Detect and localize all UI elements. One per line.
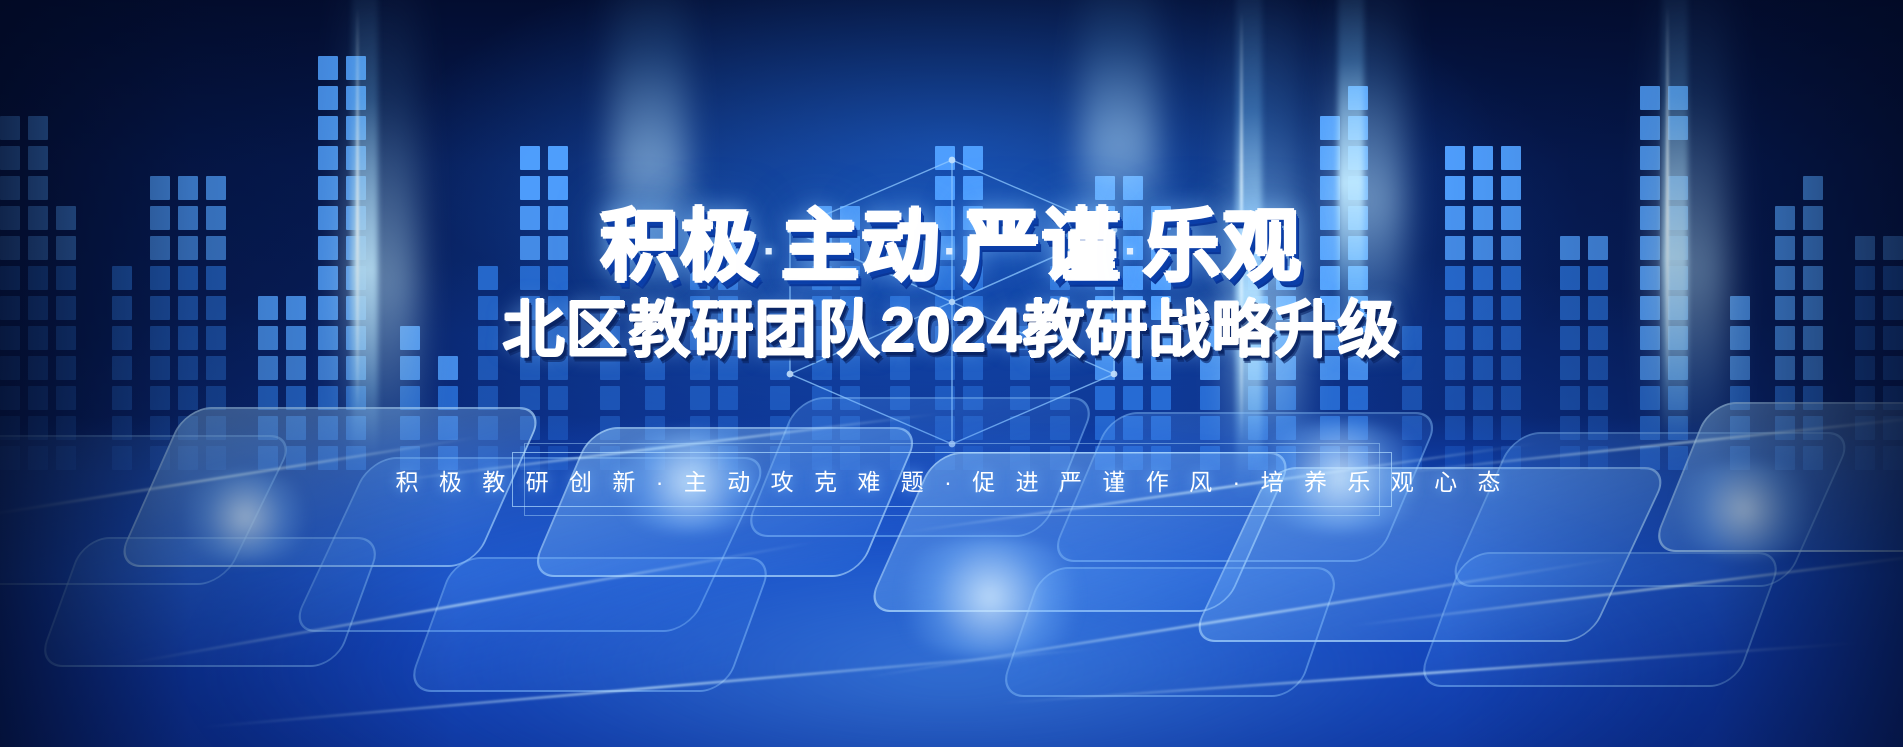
page-title: 积极·主动·严谨·乐观 bbox=[0, 207, 1903, 285]
tagline-bar: 积 极 教 研 创 新 · 主 动 攻 克 难 题 · 促 进 严 谨 作 风 … bbox=[512, 452, 1392, 507]
tagline-text: 积 极 教 研 创 新 · 主 动 攻 克 难 题 · 促 进 严 谨 作 风 … bbox=[512, 452, 1392, 507]
title-separator: · bbox=[941, 227, 962, 276]
title-word: 乐观 bbox=[1143, 202, 1303, 290]
title-word: 积极 bbox=[600, 202, 760, 290]
banner-content: 积极·主动·严谨·乐观 北区教研团队2024教研战略升级 积 极 教 研 创 新… bbox=[0, 0, 1903, 747]
title-separator: · bbox=[1122, 227, 1143, 276]
title-word: 主动 bbox=[781, 202, 941, 290]
page-subtitle: 北区教研团队2024教研战略升级 bbox=[0, 300, 1903, 362]
banner-root: 积极·主动·严谨·乐观 北区教研团队2024教研战略升级 积 极 教 研 创 新… bbox=[0, 0, 1903, 747]
title-separator: · bbox=[761, 227, 782, 276]
title-word: 严谨 bbox=[962, 202, 1122, 290]
